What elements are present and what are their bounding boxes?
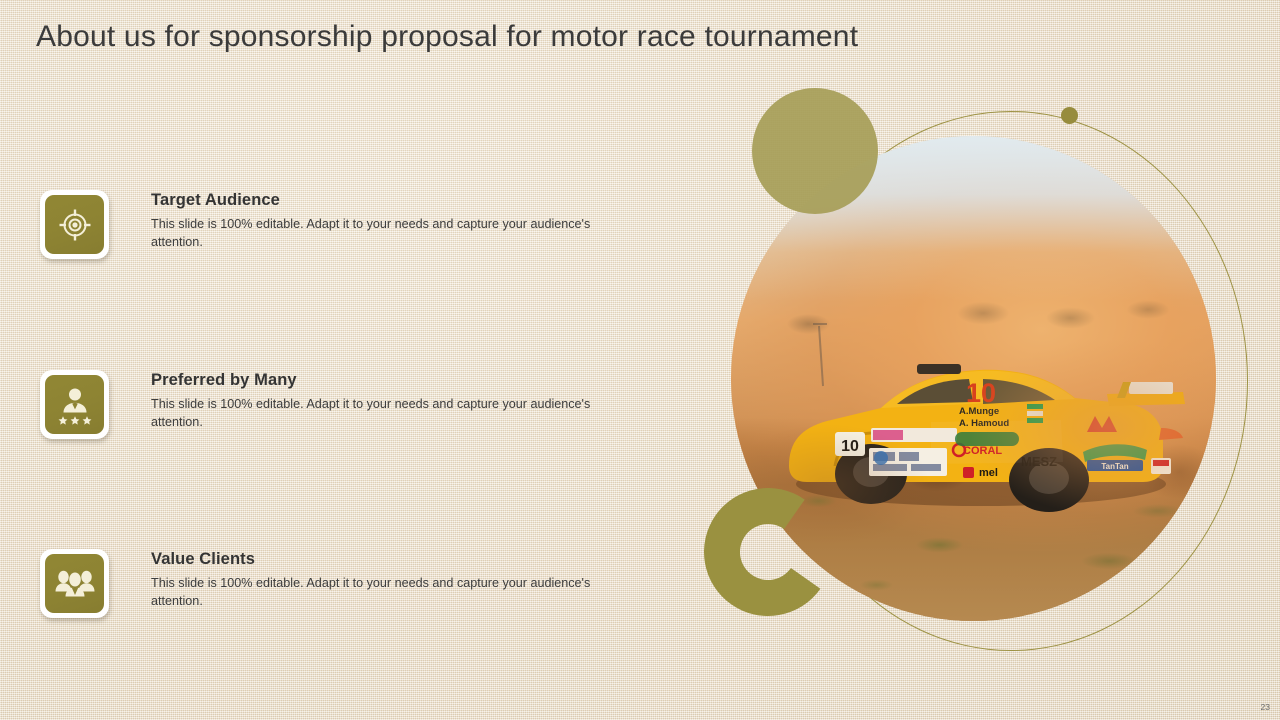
feature-body: This slide is 100% editable. Adapt it to… xyxy=(151,396,596,431)
feature-text-block: Target Audience This slide is 100% edita… xyxy=(151,190,621,251)
feature-item-target-audience[interactable]: Target Audience This slide is 100% edita… xyxy=(40,190,640,276)
feature-title: Target Audience xyxy=(151,190,621,210)
svg-text:A. Hamoud: A. Hamoud xyxy=(959,418,1009,429)
slide-canvas: About us for sponsorship proposal for mo… xyxy=(0,0,1280,720)
target-icon xyxy=(45,195,104,254)
artwork-composition: 10 A.Munge A. Hamoud 10 xyxy=(690,80,1270,650)
svg-text:CORAL: CORAL xyxy=(963,445,1002,457)
feature-text-block: Value Clients This slide is 100% editabl… xyxy=(151,549,621,610)
svg-text:MESZ: MESZ xyxy=(1021,454,1057,469)
svg-text:A.Munge: A.Munge xyxy=(959,406,999,417)
feature-body: This slide is 100% editable. Adapt it to… xyxy=(151,575,596,610)
people-group-icon xyxy=(45,554,104,613)
svg-text:10: 10 xyxy=(841,438,859,455)
svg-text:mel: mel xyxy=(979,467,998,479)
person-stars-icon xyxy=(45,375,104,434)
icon-box[interactable] xyxy=(40,370,109,439)
small-olive-dot-decoration xyxy=(1061,107,1078,124)
svg-text:10: 10 xyxy=(966,378,996,408)
feature-text-block: Preferred by Many This slide is 100% edi… xyxy=(151,370,621,431)
svg-text:TanTan: TanTan xyxy=(1101,462,1128,471)
icon-box[interactable] xyxy=(40,549,109,618)
feature-title: Preferred by Many xyxy=(151,370,621,390)
feature-item-preferred-by-many[interactable]: Preferred by Many This slide is 100% edi… xyxy=(40,370,640,456)
page-number: 23 xyxy=(1261,702,1270,712)
feature-title: Value Clients xyxy=(151,549,621,569)
feature-body: This slide is 100% editable. Adapt it to… xyxy=(151,216,596,251)
olive-c-arc-decoration xyxy=(698,482,838,622)
icon-box[interactable] xyxy=(40,190,109,259)
feature-item-value-clients[interactable]: Value Clients This slide is 100% editabl… xyxy=(40,549,640,635)
page-title: About us for sponsorship proposal for mo… xyxy=(36,18,1156,56)
olive-circle-decoration xyxy=(752,88,878,214)
